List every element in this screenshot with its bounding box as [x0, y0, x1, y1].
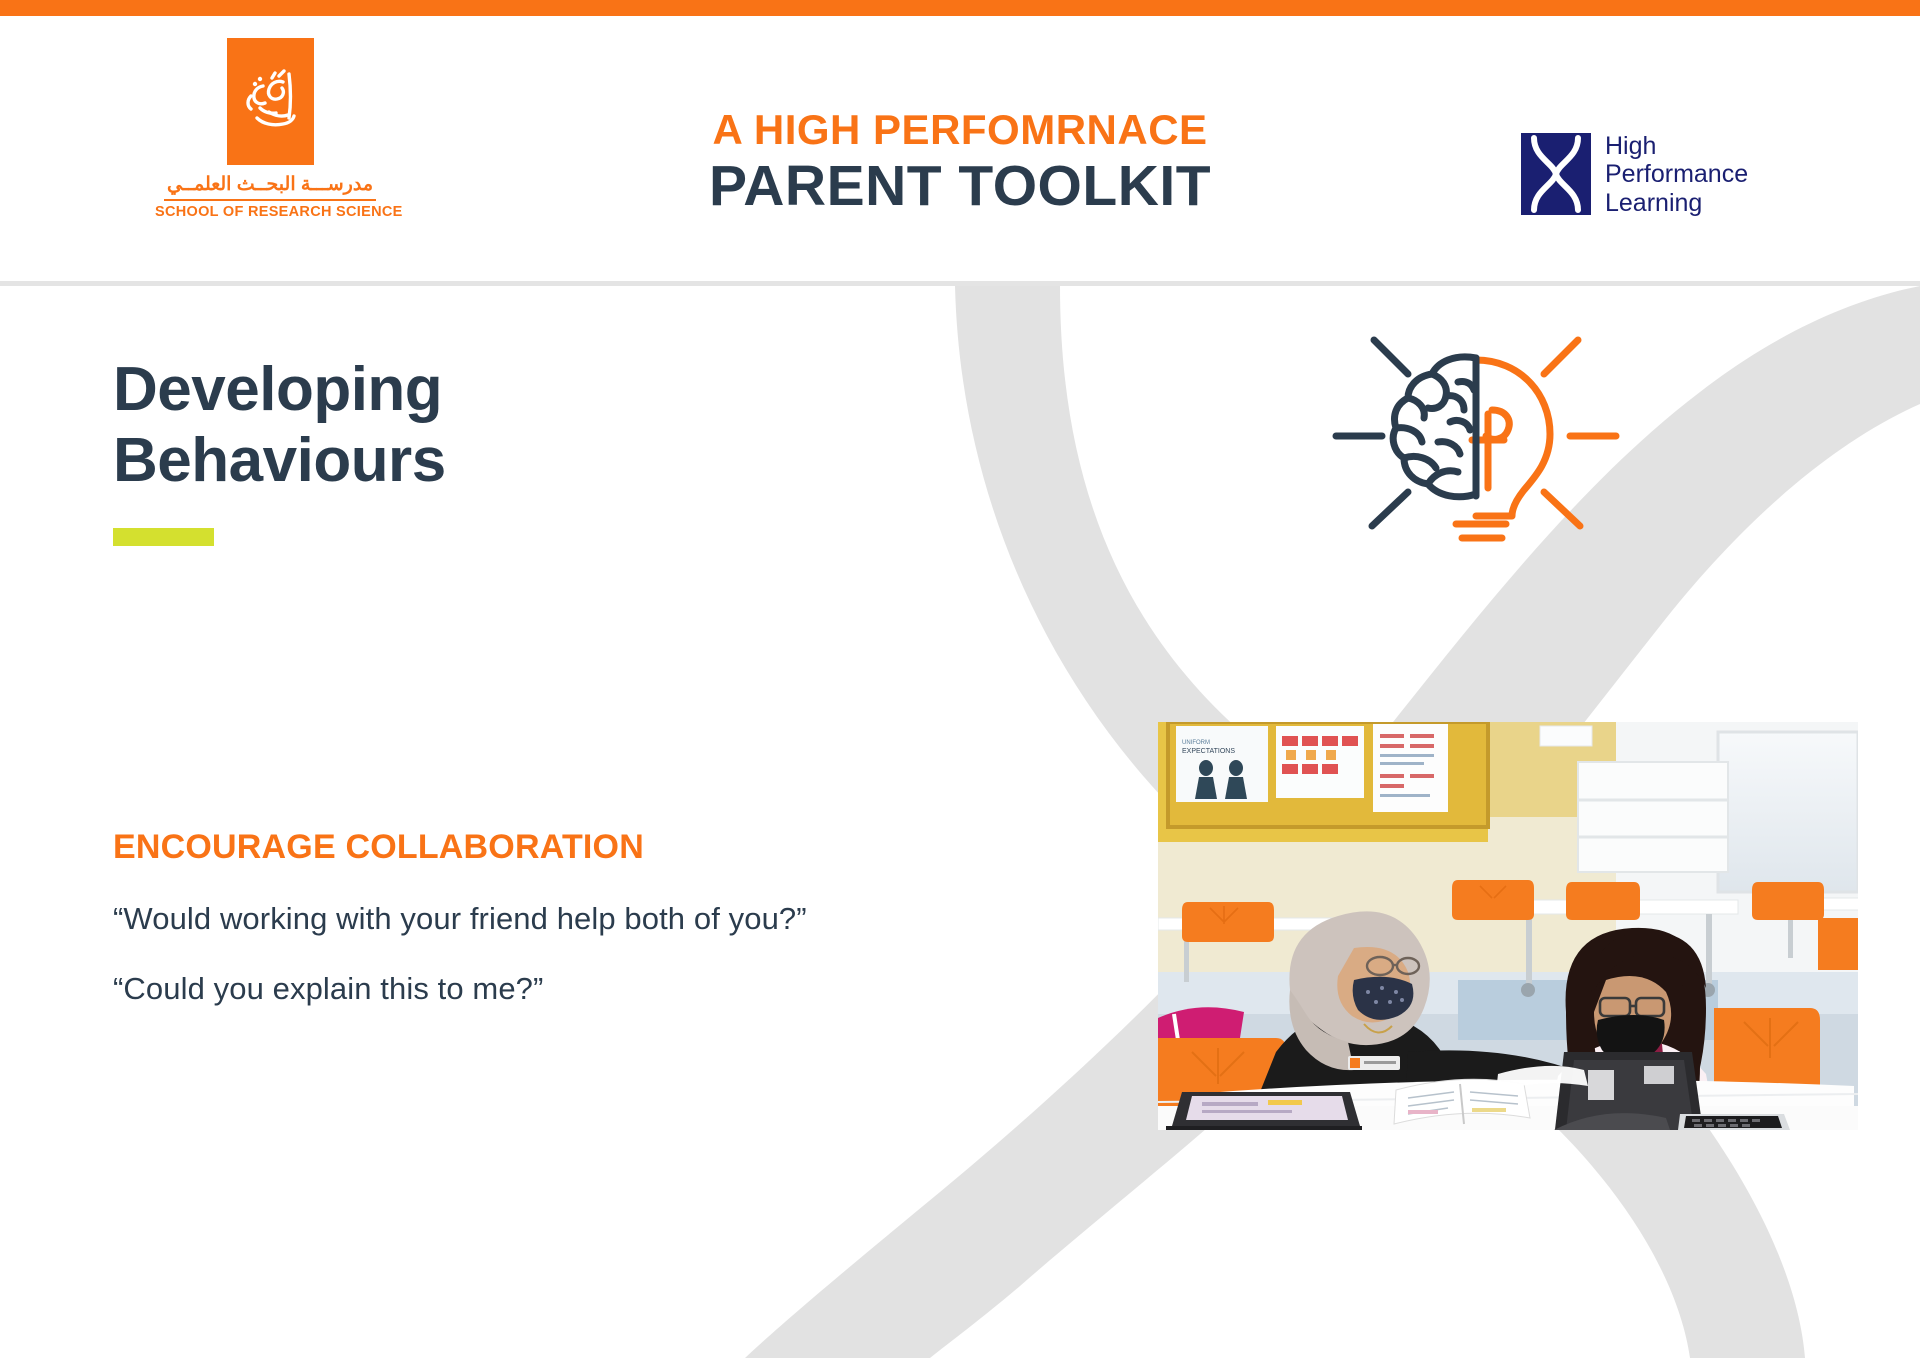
brain-lightbulb-icon — [1326, 318, 1626, 548]
hpl-text-line2: Performance — [1605, 160, 1748, 188]
prompt-heading: ENCOURAGE COLLABORATION — [113, 828, 1013, 867]
hpl-text-line1: High — [1605, 132, 1748, 160]
page-title-block: Developing Behaviours — [113, 355, 446, 546]
prompt-section: ENCOURAGE COLLABORATION “Would working w… — [113, 828, 1013, 1007]
svg-text:UNIFORM: UNIFORM — [1182, 740, 1210, 746]
hpl-logo-text: High Performance Learning — [1605, 132, 1748, 217]
hpl-logo-mark — [1521, 133, 1591, 215]
prompt-item: “Could you explain this to me?” — [113, 971, 1013, 1007]
accent-bar — [113, 528, 214, 546]
top-orange-bar — [0, 0, 1920, 16]
toolkit-title: A HIGH PERFOMRNACE PARENT TOOLKIT — [480, 108, 1440, 218]
prompt-item: “Would working with your friend help bot… — [113, 901, 1013, 937]
school-name-arabic: مدرســـة البحــث العلمــي — [155, 173, 385, 196]
hpl-text-line3: Learning — [1605, 189, 1748, 217]
page-header: مدرســـة البحــث العلمــي SCHOOL OF RESE… — [0, 16, 1920, 285]
header-divider — [0, 281, 1920, 286]
school-logo-divider — [164, 199, 376, 201]
toolkit-title-line2: PARENT TOOLKIT — [480, 156, 1440, 218]
page-title-line2: Behaviours — [113, 426, 446, 497]
school-logo-mark — [227, 38, 314, 165]
hpl-logo: High Performance Learning — [1521, 132, 1748, 217]
school-name-english: SCHOOL OF RESEARCH SCIENCE — [155, 204, 385, 220]
svg-text:EXPECTATIONS: EXPECTATIONS — [1182, 748, 1235, 755]
toolkit-title-line1: A HIGH PERFOMRNACE — [480, 108, 1440, 152]
page-title-line1: Developing — [113, 355, 446, 426]
classroom-photo: UNIFORM EXPECTATIONS — [1158, 722, 1858, 1130]
school-logo: مدرســـة البحــث العلمــي SCHOOL OF RESE… — [155, 38, 385, 220]
